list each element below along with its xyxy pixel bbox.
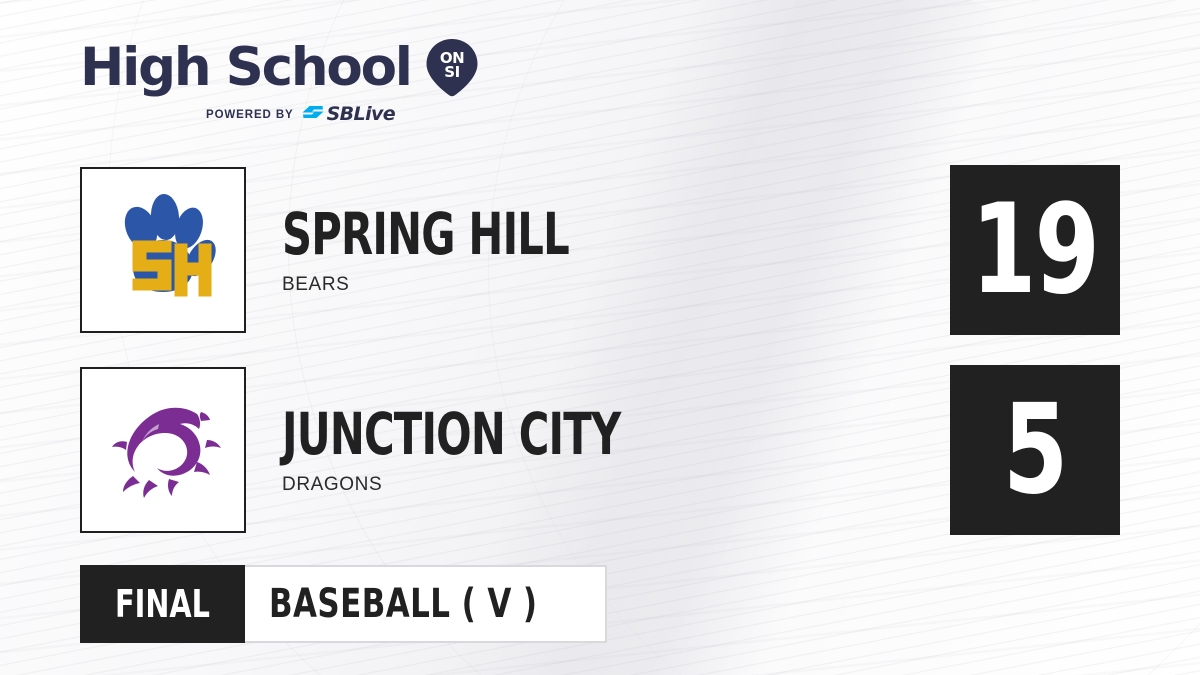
- team-name: SPRING HILL: [282, 205, 816, 263]
- svg-text:SI: SI: [444, 63, 459, 81]
- team-logo-box: [80, 367, 246, 533]
- team-text-block: SPRING HILL BEARS: [282, 205, 950, 296]
- team-score: 5: [1003, 388, 1067, 512]
- team-mascot: BEARS: [282, 274, 950, 296]
- game-state-badge: FINAL: [80, 565, 245, 643]
- powered-by-row: POWERED BY SBLive: [206, 105, 510, 124]
- team-name: JUNCTION CITY: [282, 405, 816, 463]
- team-score: 19: [971, 188, 1098, 312]
- sport-label-box: BASEBALL ( V ): [245, 565, 607, 643]
- team-text-block: JUNCTION CITY DRAGONS: [282, 405, 950, 496]
- team-logo-box: [80, 167, 246, 333]
- brand-header: High School ON SI POWERED BY SBLive: [80, 36, 510, 124]
- paw-print-sh-monogram-icon: [97, 184, 229, 316]
- sblive-logo: SBLive: [302, 105, 395, 124]
- sblive-wordmark: SBLive: [327, 105, 395, 124]
- team-row: JUNCTION CITY DRAGONS 5: [80, 365, 1120, 535]
- on-si-pin-icon: ON SI: [421, 36, 483, 98]
- team-score-box: 5: [950, 365, 1120, 535]
- sblive-s-mark-icon: [302, 105, 324, 124]
- dragon-icon: [97, 384, 229, 516]
- status-bar: FINAL BASEBALL ( V ): [80, 565, 607, 643]
- sport-label: BASEBALL ( V ): [269, 581, 538, 627]
- team-row: SPRING HILL BEARS 19: [80, 165, 1120, 335]
- team-score-box: 19: [950, 165, 1120, 335]
- scoreboard-graphic: High School ON SI POWERED BY SBLive: [0, 0, 1200, 675]
- team-mascot: DRAGONS: [282, 474, 950, 496]
- powered-by-label: POWERED BY: [206, 109, 294, 121]
- game-state-label: FINAL: [115, 582, 210, 626]
- brand-wordmark: High School: [80, 41, 411, 94]
- brand-logo-row: High School ON SI: [80, 36, 510, 98]
